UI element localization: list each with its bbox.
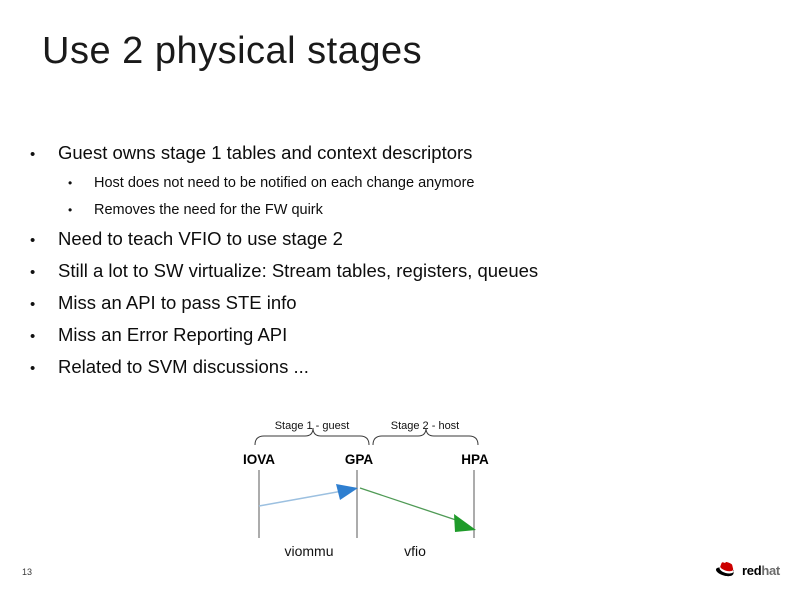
list-item-label: Related to SVM discussions ... xyxy=(58,352,730,382)
edge-vfio-arrowhead xyxy=(454,514,476,532)
bullet-dot-icon: • xyxy=(68,170,94,197)
stage-2-brace xyxy=(373,428,478,445)
edge-viommu-arrowhead xyxy=(336,484,358,500)
edge-label-vfio: vfio xyxy=(404,543,426,559)
bullet-dot-icon: • xyxy=(68,197,94,224)
list-item-label: Miss an API to pass STE info xyxy=(58,288,730,318)
axis-label-gpa: GPA xyxy=(345,452,374,467)
redhat-wordmark: redhat xyxy=(742,564,780,577)
bullet-list: • Guest owns stage 1 tables and context … xyxy=(30,138,730,384)
list-item-label: Host does not need to be notified on eac… xyxy=(94,170,730,197)
bullet-dot-icon: • xyxy=(30,322,58,352)
axis-label-hpa: HPA xyxy=(461,452,489,467)
list-item-label: Guest owns stage 1 tables and context de… xyxy=(58,138,730,168)
list-item: • Need to teach VFIO to use stage 2 xyxy=(30,224,730,256)
list-item-label: Still a lot to SW virtualize: Stream tab… xyxy=(58,256,730,286)
bullet-dot-icon: • xyxy=(30,226,58,256)
redhat-logo: redhat xyxy=(716,562,780,578)
redhat-shadowman-icon xyxy=(716,562,738,578)
logo-word-hat: hat xyxy=(761,563,780,578)
logo-word-red: red xyxy=(742,563,761,578)
list-item: • Guest owns stage 1 tables and context … xyxy=(30,138,730,170)
list-item: • Related to SVM discussions ... xyxy=(30,352,730,384)
stage-1-label: Stage 1 - guest xyxy=(275,420,350,432)
address-translation-diagram: Stage 1 - guest Stage 2 - host IOVA GPA … xyxy=(210,412,530,562)
edge-label-viommu: viommu xyxy=(284,543,333,559)
page-title: Use 2 physical stages xyxy=(42,30,422,73)
bullet-dot-icon: • xyxy=(30,140,58,170)
edge-vfio-line xyxy=(360,488,462,522)
bullet-dot-icon: • xyxy=(30,258,58,288)
axis-label-iova: IOVA xyxy=(243,452,275,467)
list-item: • Miss an API to pass STE info xyxy=(30,288,730,320)
list-item: • Still a lot to SW virtualize: Stream t… xyxy=(30,256,730,288)
list-item-label: Need to teach VFIO to use stage 2 xyxy=(58,224,730,254)
list-item: • Miss an Error Reporting API xyxy=(30,320,730,352)
stage-2-label: Stage 2 - host xyxy=(391,420,460,432)
page-number: 13 xyxy=(22,567,32,577)
list-item: • Removes the need for the FW quirk xyxy=(68,197,730,224)
list-item-label: Removes the need for the FW quirk xyxy=(94,197,730,224)
edge-viommu-line xyxy=(259,490,348,506)
bullet-dot-icon: • xyxy=(30,354,58,384)
list-item-label: Miss an Error Reporting API xyxy=(58,320,730,350)
list-item: • Host does not need to be notified on e… xyxy=(68,170,730,197)
bullet-dot-icon: • xyxy=(30,290,58,320)
slide-canvas: Use 2 physical stages • Guest owns stage… xyxy=(0,0,800,600)
